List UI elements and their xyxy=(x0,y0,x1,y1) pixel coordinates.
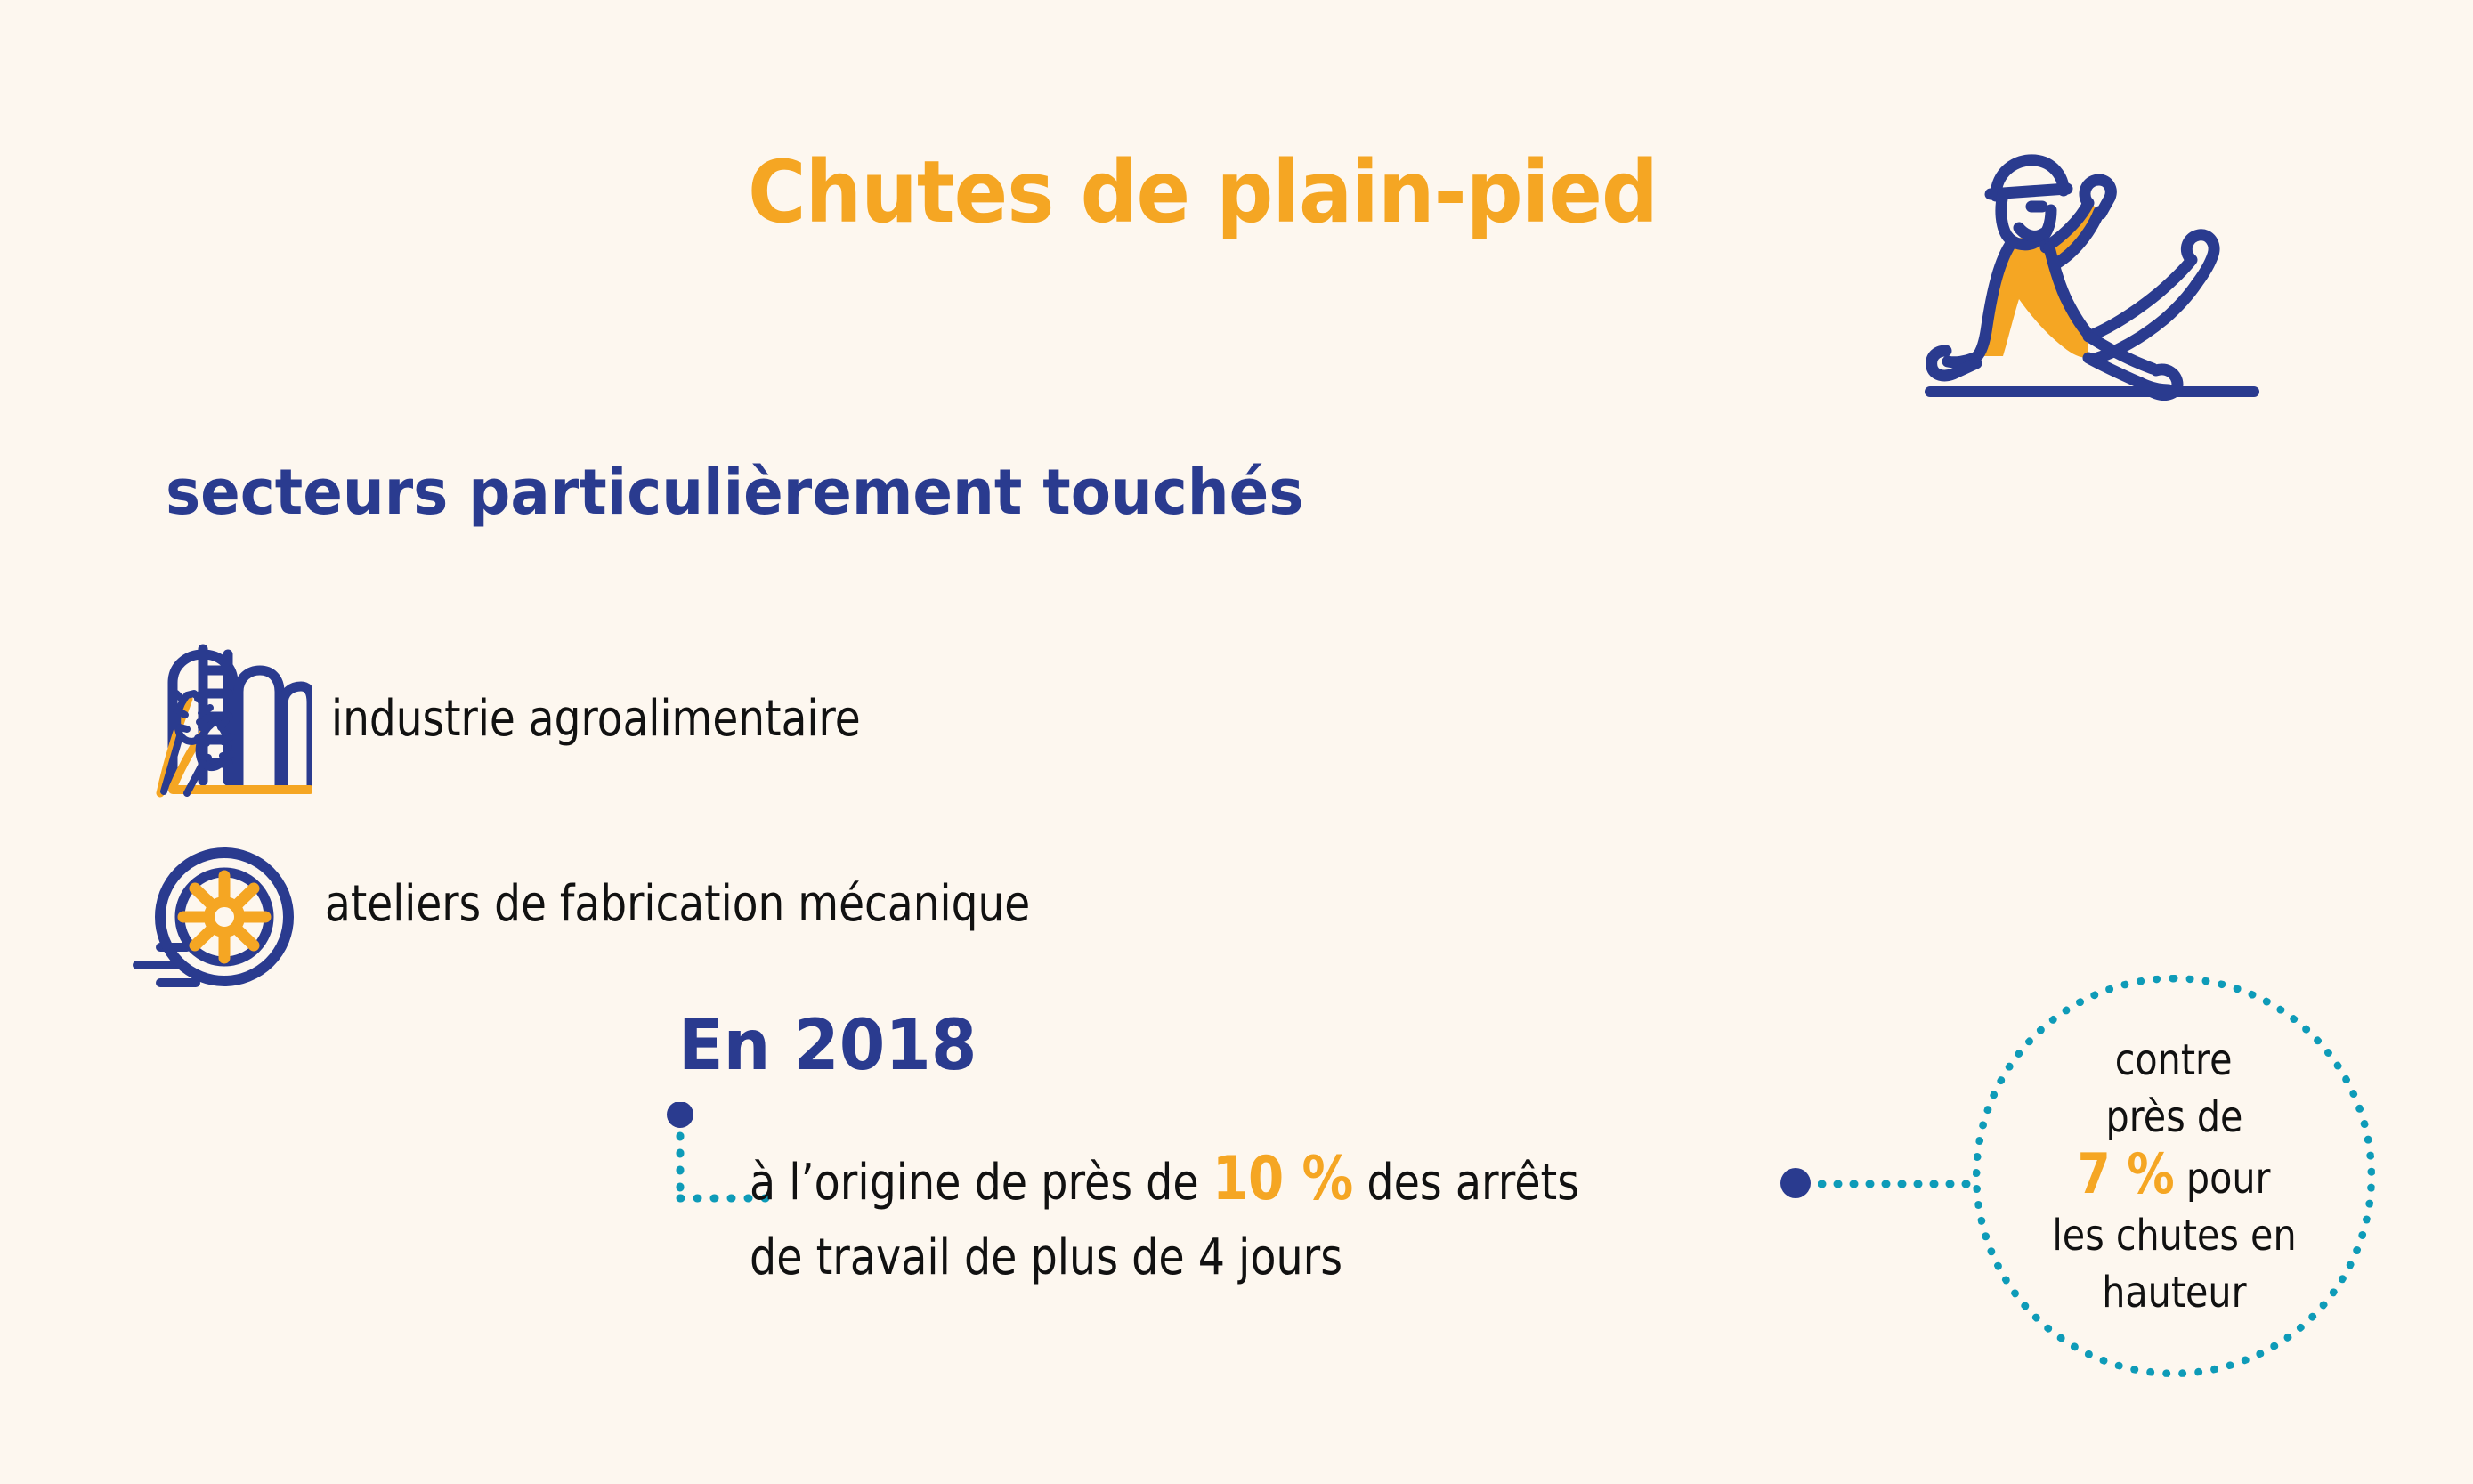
statistic-line-1-suffix: des arrêts xyxy=(1353,1154,1579,1212)
circle-callout-text: contre près de 7 % pour les chutes en ha… xyxy=(1973,975,2375,1377)
infographic-canvas: Chutes de plain-pied xyxy=(0,0,2473,1484)
callout-lead-line xyxy=(1818,1177,1974,1189)
statistic-line-1: à l’origine de près de 10 % des arrêts xyxy=(750,1142,1642,1220)
falling-worker-illustration xyxy=(1914,134,2270,418)
statistic-sentence: à l’origine de près de 10 % des arrêts d… xyxy=(750,1142,1800,1295)
statistic-line-2: de travail de plus de 4 jours xyxy=(750,1220,1642,1295)
callout-line-3-suffix: pour xyxy=(2175,1154,2271,1204)
callout-anchor-dot xyxy=(1780,1168,1811,1198)
callout-line-3: 7 % pour xyxy=(2078,1146,2271,1207)
callout-line-5: hauteur xyxy=(2102,1264,2246,1321)
year-label: En 2018 xyxy=(678,1006,977,1086)
sector-item-agroalimentaire: industrie agroalimentaire xyxy=(134,637,961,801)
sector-item-fabrication-mecanique: ateliers de fabrication mécanique xyxy=(125,819,1164,988)
statistic-value-10-percent: 10 % xyxy=(1212,1144,1353,1214)
callout-line-2: près de xyxy=(2105,1089,2242,1146)
statistic-line-1-prefix: à l’origine de près de xyxy=(750,1154,1212,1212)
sector-label-fabrication-mecanique: ateliers de fabrication mécanique xyxy=(325,875,1030,933)
callout-line-1: contre xyxy=(2115,1032,2233,1089)
callout-line-4: les chutes en xyxy=(2052,1207,2296,1264)
circle-callout: contre près de 7 % pour les chutes en ha… xyxy=(1973,975,2375,1377)
sector-label-agroalimentaire: industrie agroalimentaire xyxy=(331,690,861,748)
wheel-icon xyxy=(125,819,298,988)
grain-silo-icon xyxy=(134,637,312,801)
callout-value-7-percent: 7 % xyxy=(2078,1141,2175,1206)
section-subtitle: secteurs particulièrement touchés xyxy=(166,456,1303,529)
page-title: Chutes de plain-pied xyxy=(748,142,1658,242)
